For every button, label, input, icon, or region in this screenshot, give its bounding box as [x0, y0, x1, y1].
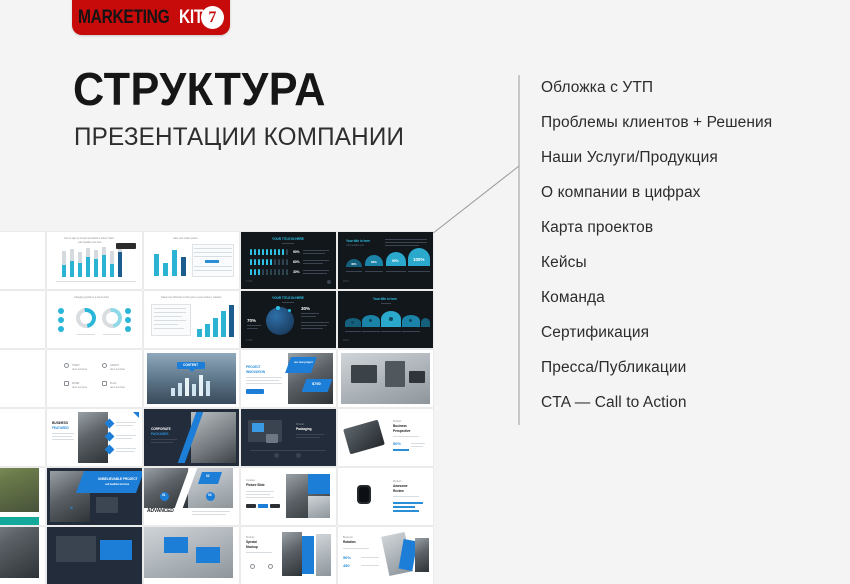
logo-text-kit: KIT: [179, 7, 203, 29]
logo-inner: MARKETING KIT 7: [78, 6, 224, 29]
slide-thumbnail[interactable]: YOUR TITLE IN HERE 90% 60%: [241, 232, 336, 289]
slide-thumbnail[interactable]: YOUR TITLE IN HERE 70% 30% TYPE: [241, 291, 336, 348]
logo-seven-badge: 7: [201, 6, 224, 29]
slide-thumbnail[interactable]: [338, 350, 433, 407]
slide-thumbnail[interactable]: Business Rotation 50% 450: [338, 527, 433, 584]
slide-thumbnail[interactable]: Product Awesome Review: [338, 468, 433, 525]
page-title: СТРУКТУРА: [73, 66, 326, 112]
agenda-item-4[interactable]: О компании в цифрах: [541, 175, 846, 210]
logo-badge: MARKETING KIT 7: [72, 0, 230, 35]
slide-thumbnail[interactable]: Product Special Mockup: [241, 527, 336, 584]
slide-thumbnail[interactable]: sales and charts power: [144, 232, 239, 289]
agenda-item-9[interactable]: Пресса/Публикации: [541, 350, 846, 385]
slide-thumbnail[interactable]: Product Business Perspective 50%: [338, 409, 433, 466]
slide-thumbnail[interactable]: UNBELIEVABLE PROJECT sub headline text h…: [47, 468, 142, 525]
agenda-item-10[interactable]: CTA — Call to Action: [541, 385, 846, 420]
slide-thumbnail[interactable]: START desc text here GRAPH desc text her…: [47, 350, 142, 407]
slide-thumbnail[interactable]: Your title in here sub headline text 40%…: [338, 232, 433, 289]
slide-thumbnail[interactable]: our new project PROJECT INNOVATION $750: [241, 350, 336, 407]
slide-thumbnail[interactable]: [0, 468, 45, 525]
agenda-item-8[interactable]: Сертификация: [541, 315, 846, 350]
slide-thumbnail[interactable]: CORPORATE PACKAGES: [144, 409, 239, 466]
agenda-list: Обложка с УТП Проблемы клиентов + Решени…: [541, 70, 846, 420]
agenda-item-1[interactable]: Обложка с УТП: [541, 70, 846, 105]
slide-thumbnail[interactable]: Creative Picture Slide: [241, 468, 336, 525]
slide-thumbnail[interactable]: 01 02 03 ADVANCED: [144, 468, 239, 525]
agenda-item-2[interactable]: Проблемы клиентов + Решения: [541, 105, 846, 140]
slide-thumbnail[interactable]: [144, 527, 239, 584]
slide-thumbnail[interactable]: BUSINESS FEATURED: [47, 409, 142, 466]
slide-thumbnail[interactable]: our founders: [0, 291, 45, 348]
agenda-item-6[interactable]: Кейсы: [541, 245, 846, 280]
slide-thumbnail[interactable]: Product Packaging: [241, 409, 336, 466]
slide-thumbnail[interactable]: LET YOUR CREATIVITYFLOW: [0, 350, 45, 407]
connector-diagonal-line: [432, 166, 519, 234]
agenda-item-7[interactable]: Команда: [541, 280, 846, 315]
slide-thumbnail[interactable]: [0, 527, 45, 584]
slide-thumbnail-grid: our team how to sign up & view wonderful…: [0, 232, 434, 507]
slide-thumbnail[interactable]: Category growth in a donut chart: [47, 291, 142, 348]
slide-thumbnail[interactable]: Your title in here INFO: [338, 291, 433, 348]
slide-thumbnail[interactable]: [47, 527, 142, 584]
agenda-item-3[interactable]: Наши Услуги/Продукция: [541, 140, 846, 175]
slide-thumbnail[interactable]: our team: [0, 232, 45, 289]
slide-thumbnail[interactable]: CONTENT: [144, 350, 239, 407]
slide-thumbnail[interactable]: how to sign up & view wonderful number c…: [47, 232, 142, 289]
page-subtitle: ПРЕЗЕНТАЦИИ КОМПАНИИ: [74, 124, 404, 151]
agenda-item-5[interactable]: Карта проектов: [541, 210, 846, 245]
slide-thumbnail[interactable]: Sales rose 40% last month year to year m…: [144, 291, 239, 348]
slide-thumbnail[interactable]: BOLDTITLE ISAWESOME: [0, 409, 45, 466]
logo-text-marketing: MARKETING: [78, 7, 169, 29]
